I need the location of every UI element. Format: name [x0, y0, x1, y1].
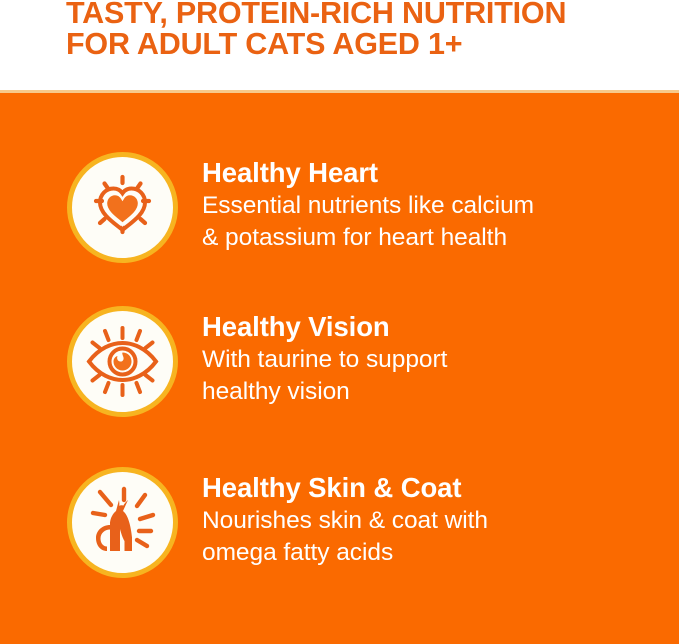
- cat-tail: [96, 525, 110, 551]
- cat-sun-icon: [67, 467, 178, 578]
- feature-icon-container: [67, 306, 178, 417]
- feature-text-block: Healthy Vision With taurine to support h…: [202, 310, 662, 407]
- header-band: TASTY, PROTEIN-RICH NUTRITION FOR ADULT …: [0, 0, 679, 92]
- feature-description: With taurine to support healthy vision: [202, 344, 662, 407]
- eye-sun-icon: [67, 306, 178, 417]
- cat-body: [110, 500, 132, 551]
- heart-sun-icon: [67, 152, 178, 263]
- feature-icon-container: [67, 152, 178, 263]
- feature-icon-container: [67, 467, 178, 578]
- product-benefits-infographic: TASTY, PROTEIN-RICH NUTRITION FOR ADULT …: [0, 0, 679, 644]
- page-title: TASTY, PROTEIN-RICH NUTRITION FOR ADULT …: [66, 0, 666, 60]
- feature-text-block: Healthy Skin & Coat Nourishes skin & coa…: [202, 471, 662, 568]
- feature-heading: Healthy Skin & Coat: [202, 471, 662, 504]
- feature-description: Nourishes skin & coat with omega fatty a…: [202, 505, 662, 568]
- feature-text-block: Healthy Heart Essential nutrients like c…: [202, 156, 662, 253]
- feature-description: Essential nutrients like calcium & potas…: [202, 190, 662, 253]
- eye-pupil: [114, 353, 132, 371]
- feature-heading: Healthy Heart: [202, 156, 662, 189]
- feature-heading: Healthy Vision: [202, 310, 662, 343]
